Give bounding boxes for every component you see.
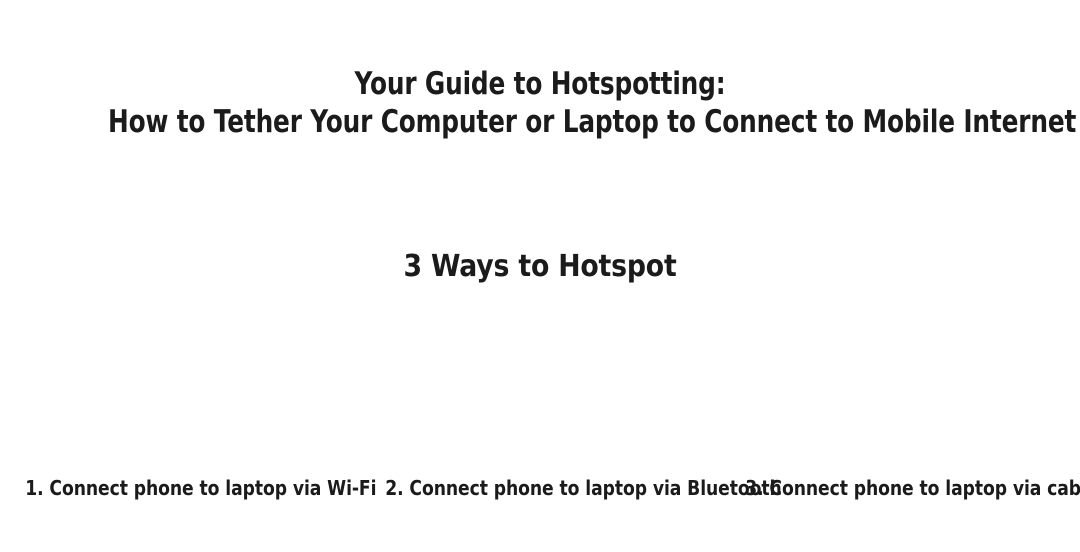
method-caption-cable: 3. Connect phone to laptop via cable (745, 475, 1055, 526)
method-illustration-cable (720, 278, 1080, 475)
method-illustration-bluetooth (360, 278, 720, 475)
page-title: Your Guide to Hotspotting: How to Tether… (108, 65, 972, 141)
method-item-cable: 3. Connect phone to laptop via cable (720, 278, 1080, 526)
methods-row: 1. Connect phone to laptop via Wi-Fi 2. … (0, 278, 1080, 526)
method-item-wifi: 1. Connect phone to laptop via Wi-Fi (0, 278, 360, 526)
page-title-line-1: Your Guide to Hotspotting: (108, 65, 972, 103)
page-title-line-2: How to Tether Your Computer or Laptop to… (108, 103, 972, 141)
method-caption-bluetooth: 2. Connect phone to laptop via Bluetooth (385, 475, 695, 526)
article-page: Your Guide to Hotspotting: How to Tether… (0, 0, 1080, 552)
method-illustration-wifi (0, 278, 360, 475)
method-item-bluetooth: 2. Connect phone to laptop via Bluetooth (360, 278, 720, 526)
method-caption-wifi: 1. Connect phone to laptop via Wi-Fi (25, 475, 335, 526)
